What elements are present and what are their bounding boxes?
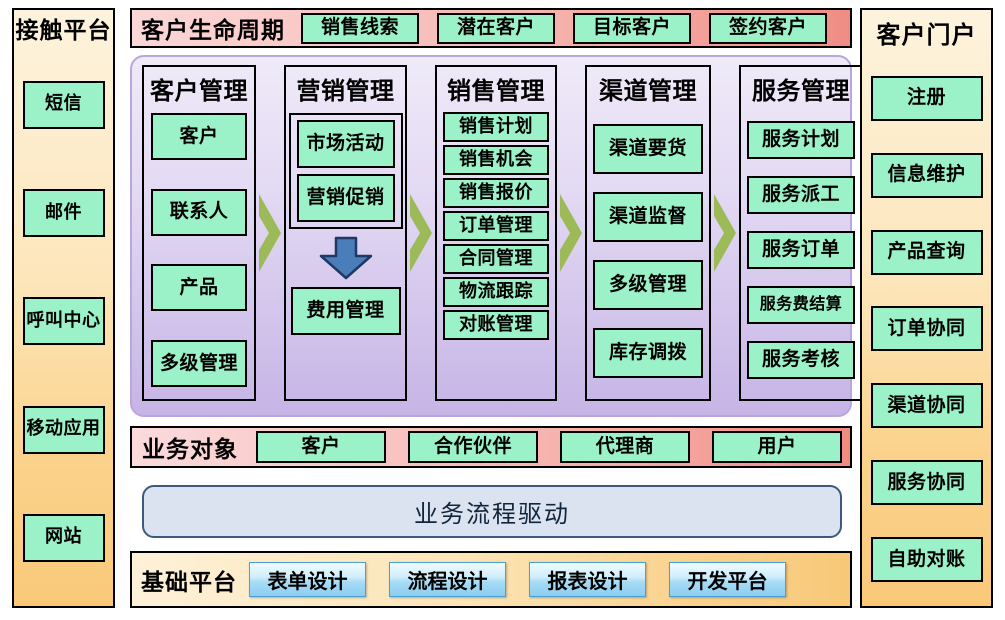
foundation-form-designer-button[interactable]: 表单设计 <box>249 562 366 597</box>
foundation-dev-platform-button[interactable]: 开发平台 <box>669 562 786 597</box>
module-service-dispatch[interactable]: 服务派工 <box>747 176 855 214</box>
module-marketing-promotion[interactable]: 营销促销 <box>297 174 395 222</box>
module-market-campaign[interactable]: 市场活动 <box>297 120 395 168</box>
column-channel-management-items: 渠道要货 渠道监督 多级管理 库存调拨 <box>593 111 703 391</box>
contact-platform-panel: 接触平台 短信 邮件 呼叫中心 移动应用 网站 <box>12 8 115 608</box>
business-objects-title: 业务对象 <box>142 430 238 464</box>
column-customer-management-title: 客户管理 <box>150 71 248 106</box>
chevron-right-icon-2 <box>407 190 435 276</box>
business-object-agent[interactable]: 代理商 <box>560 431 690 463</box>
module-channel-supervision[interactable]: 渠道监督 <box>593 192 703 242</box>
contact-channel-website[interactable]: 网站 <box>23 514 105 562</box>
contact-platform-title: 接触平台 <box>16 19 112 45</box>
column-marketing-management-title: 营销管理 <box>297 71 395 106</box>
portal-item-service-collaboration[interactable]: 服务协同 <box>871 460 983 505</box>
column-service-management: 服务管理 服务计划 服务派工 服务订单 服务费结算 服务考核 <box>739 65 863 401</box>
lifecycle-stage-signed[interactable]: 签约客户 <box>709 13 827 44</box>
marketing-activities-group: 市场活动 营销促销 <box>289 113 403 229</box>
chevron-right-icon-3 <box>557 190 585 276</box>
module-product[interactable]: 产品 <box>151 264 247 311</box>
contact-channel-call-center[interactable]: 呼叫中心 <box>23 297 105 345</box>
business-object-customer[interactable]: 客户 <box>256 431 386 463</box>
portal-item-info-maintenance[interactable]: 信息维护 <box>871 153 983 198</box>
customer-portal-panel: 客户门户 注册 信息维护 产品查询 订单协同 渠道协同 服务协同 自助对账 <box>860 8 993 608</box>
module-sales-quotation[interactable]: 销售报价 <box>443 178 549 208</box>
module-sales-plan[interactable]: 销售计划 <box>443 112 549 142</box>
module-service-plan[interactable]: 服务计划 <box>747 121 855 159</box>
portal-item-self-reconciliation[interactable]: 自助对账 <box>871 537 983 582</box>
portal-item-channel-collaboration[interactable]: 渠道协同 <box>871 383 983 428</box>
portal-item-registration[interactable]: 注册 <box>871 76 983 121</box>
contact-channel-mobile-app[interactable]: 移动应用 <box>23 406 105 454</box>
process-panel: 客户管理 客户 联系人 产品 多级管理 营销管理 市场活动 营销促销 <box>130 55 852 417</box>
contact-channel-email[interactable]: 邮件 <box>23 189 105 237</box>
contact-platform-items: 短信 邮件 呼叫中心 移动应用 网站 <box>14 49 113 606</box>
customer-lifecycle-stages: 销售线索 潜在客户 目标客户 签约客户 <box>301 13 827 44</box>
down-arrow-icon <box>316 236 376 280</box>
business-process-driver-label: 业务流程驱动 <box>414 494 570 529</box>
column-sales-management-title: 销售管理 <box>447 71 545 106</box>
chevron-right-icon-1 <box>256 190 284 276</box>
module-contract-management[interactable]: 合同管理 <box>443 244 549 274</box>
customer-lifecycle-title: 客户生命周期 <box>141 11 285 45</box>
column-sales-management: 销售管理 销售计划 销售机会 销售报价 订单管理 合同管理 物流跟踪 对账管理 <box>435 65 557 401</box>
foundation-report-designer-button[interactable]: 报表设计 <box>529 562 646 597</box>
portal-item-product-query[interactable]: 产品查询 <box>871 230 983 275</box>
column-sales-management-items: 销售计划 销售机会 销售报价 订单管理 合同管理 物流跟踪 对账管理 <box>443 111 549 391</box>
contact-channel-sms[interactable]: 短信 <box>23 81 105 129</box>
module-customer[interactable]: 客户 <box>151 113 247 160</box>
diagram-canvas: 接触平台 短信 邮件 呼叫中心 移动应用 网站 客户生命周期 销售线索 潜在客户… <box>0 0 1005 620</box>
lifecycle-stage-prospect[interactable]: 潜在客户 <box>437 13 555 44</box>
foundation-platform-title: 基础平台 <box>141 563 237 597</box>
module-inventory-transfer[interactable]: 库存调拨 <box>593 328 703 378</box>
module-service-assessment[interactable]: 服务考核 <box>747 341 855 379</box>
module-service-order[interactable]: 服务订单 <box>747 231 855 269</box>
column-marketing-management: 营销管理 市场活动 营销促销 费用管理 <box>284 65 407 401</box>
customer-portal-title: 客户门户 <box>877 22 977 49</box>
module-reconciliation-management[interactable]: 对账管理 <box>443 310 549 340</box>
module-sales-opportunity[interactable]: 销售机会 <box>443 145 549 175</box>
column-channel-management-title: 渠道管理 <box>599 71 697 106</box>
chevron-right-icon-4 <box>711 190 739 276</box>
module-expense-management[interactable]: 费用管理 <box>291 287 401 335</box>
module-channel-requisition[interactable]: 渠道要货 <box>593 124 703 174</box>
lifecycle-stage-target[interactable]: 目标客户 <box>573 13 691 44</box>
module-service-fee-settlement[interactable]: 服务费结算 <box>747 286 855 324</box>
foundation-process-designer-button[interactable]: 流程设计 <box>389 562 506 597</box>
business-object-partner[interactable]: 合作伙伴 <box>408 431 538 463</box>
module-channel-multilevel-management[interactable]: 多级管理 <box>593 260 703 310</box>
module-logistics-tracking[interactable]: 物流跟踪 <box>443 277 549 307</box>
column-customer-management: 客户管理 客户 联系人 产品 多级管理 <box>142 65 256 401</box>
column-marketing-management-items: 市场活动 营销促销 费用管理 <box>292 111 399 391</box>
module-multilevel-management[interactable]: 多级管理 <box>151 340 247 387</box>
customer-portal-items: 注册 信息维护 产品查询 订单协同 渠道协同 服务协同 自助对账 <box>862 58 991 606</box>
business-process-driver-bar: 业务流程驱动 <box>142 485 842 538</box>
business-objects-items: 客户 合作伙伴 代理商 用户 <box>256 431 842 463</box>
portal-item-order-collaboration[interactable]: 订单协同 <box>871 306 983 351</box>
foundation-platform-items: 表单设计 流程设计 报表设计 开发平台 <box>249 562 786 597</box>
business-objects-bar: 业务对象 客户 合作伙伴 代理商 用户 <box>130 426 852 468</box>
column-service-management-title: 服务管理 <box>752 71 850 106</box>
foundation-platform-bar: 基础平台 表单设计 流程设计 报表设计 开发平台 <box>130 551 852 608</box>
column-channel-management: 渠道管理 渠道要货 渠道监督 多级管理 库存调拨 <box>585 65 711 401</box>
column-customer-management-items: 客户 联系人 产品 多级管理 <box>150 111 248 391</box>
column-service-management-items: 服务计划 服务派工 服务订单 服务费结算 服务考核 <box>747 111 855 391</box>
customer-lifecycle-bar: 客户生命周期 销售线索 潜在客户 目标客户 签约客户 <box>130 8 852 48</box>
module-contact-person[interactable]: 联系人 <box>151 189 247 236</box>
module-order-management[interactable]: 订单管理 <box>443 211 549 241</box>
business-object-user[interactable]: 用户 <box>712 431 842 463</box>
lifecycle-stage-lead[interactable]: 销售线索 <box>301 13 419 44</box>
